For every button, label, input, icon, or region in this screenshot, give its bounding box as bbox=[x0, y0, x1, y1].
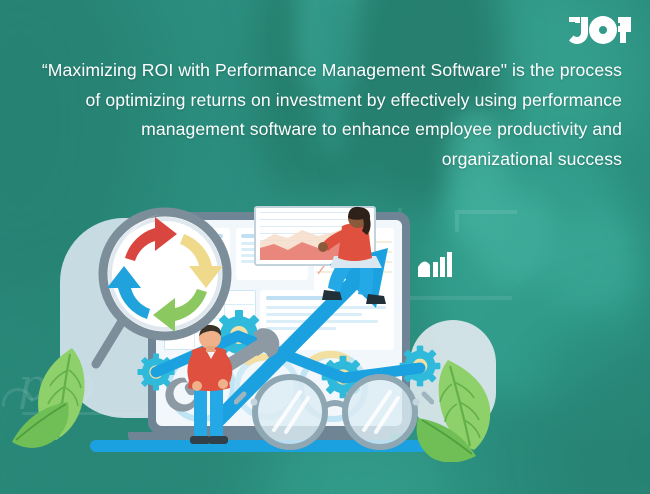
plant-leaf-right-small bbox=[408, 406, 480, 462]
plant-leaf-left-small bbox=[8, 388, 78, 452]
magnifying-glass bbox=[90, 206, 240, 376]
page-title: “Maximizing ROI with Performance Managem… bbox=[28, 56, 622, 174]
person-seated-woman bbox=[312, 206, 398, 312]
eyeglasses-icon bbox=[234, 372, 434, 450]
jop-logo[interactable] bbox=[568, 16, 632, 46]
poster-canvas: pro “Maximizing ROI with Performance Man… bbox=[0, 0, 650, 494]
performance-management-illustration bbox=[0, 196, 650, 494]
bar-chart-icon bbox=[418, 251, 452, 277]
